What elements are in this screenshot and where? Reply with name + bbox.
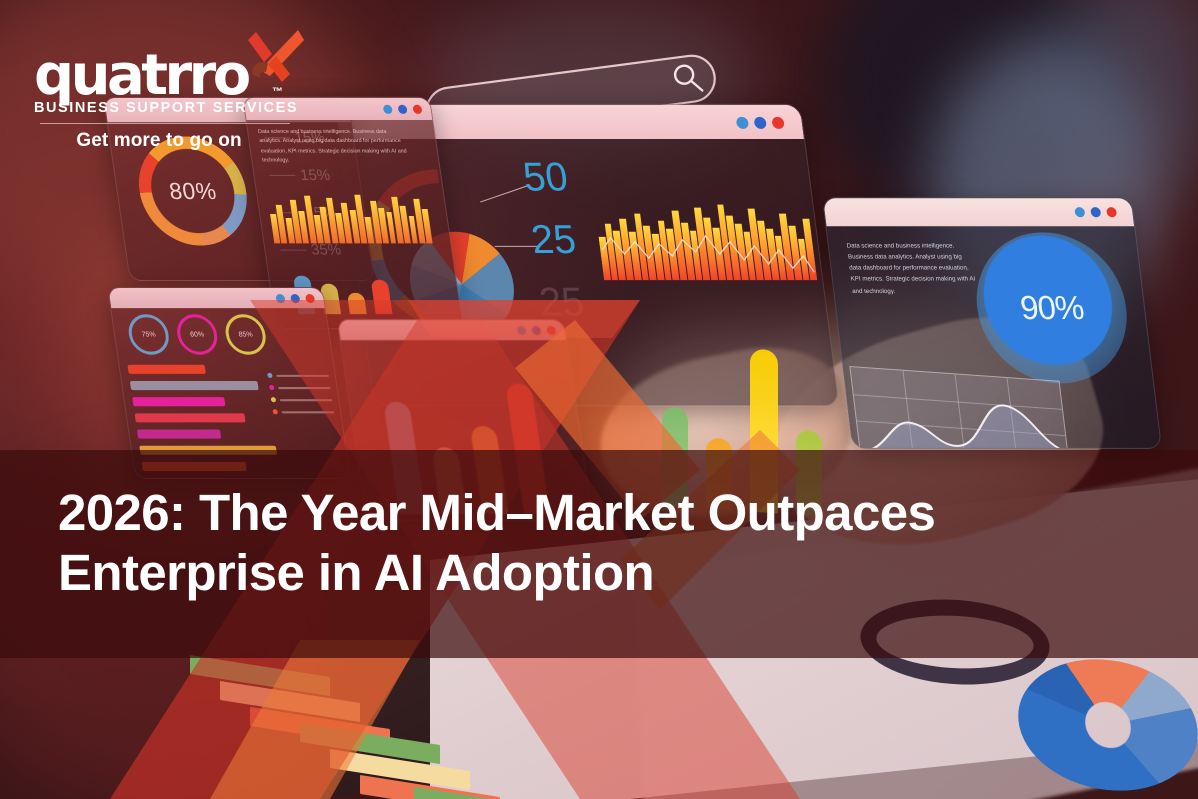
window-dots[interactable] — [736, 117, 785, 129]
window-dots[interactable] — [383, 105, 423, 114]
brand-tagline: Get more to go on — [34, 130, 284, 152]
histogram-trend-line — [593, 198, 817, 281]
window-dot-blue[interactable] — [383, 105, 393, 114]
line-series — [850, 367, 1071, 449]
axis-label-25b: 25 — [537, 282, 586, 322]
quatrro-x-mark-icon — [246, 30, 308, 90]
ring-gauge: 85% — [223, 314, 268, 354]
sparkline-histogram — [267, 191, 433, 244]
kpi-value: 90% — [968, 232, 1135, 383]
window-dot-red[interactable] — [771, 117, 784, 129]
window-dot-red[interactable] — [546, 326, 556, 335]
ring-gauges: 75% 60% 85% — [126, 314, 268, 354]
window-dot-blue[interactable] — [1074, 207, 1085, 217]
banner-root: 50 25 25 80% 15% 15% 15% — [0, 0, 1198, 799]
kpi-bubble: 90% — [968, 232, 1135, 383]
window-dot-blue[interactable] — [275, 294, 285, 303]
divider — [40, 123, 290, 124]
ring-gauge: 75% — [126, 314, 171, 354]
chart-legend — [267, 373, 335, 422]
trademark-symbol: ™ — [272, 86, 283, 98]
window-dot-navy[interactable] — [754, 117, 767, 129]
window-dot-navy[interactable] — [398, 105, 408, 114]
headline-line-1: 2026: The Year Mid–Market Outpaces — [58, 484, 935, 541]
window-dot-navy[interactable] — [290, 294, 300, 303]
axis-label-25a: 25 — [529, 220, 578, 260]
window-dots[interactable] — [517, 326, 557, 335]
window-dot-navy[interactable] — [1090, 207, 1101, 217]
window-dot-red[interactable] — [305, 294, 315, 303]
window-dot-red[interactable] — [1106, 207, 1117, 217]
page-title: 2026: The Year Mid–Market Outpaces Enter… — [58, 483, 1178, 602]
donut-center-value: 80% — [131, 136, 254, 245]
kpi-line-chart — [849, 366, 1072, 449]
ring-gauge: 60% — [174, 314, 219, 354]
printed-report — [500, 648, 1198, 799]
headline-line-2: Enterprise in AI Adoption — [58, 543, 1178, 603]
window-dots[interactable] — [1074, 207, 1117, 217]
window-dot-red[interactable] — [412, 105, 422, 114]
kpi-description-text: Data science and business intelligence. … — [846, 240, 980, 296]
window-dots[interactable] — [275, 294, 315, 303]
brand-subtitle: BUSINESS SUPPORT SERVICES — [34, 100, 304, 116]
axis-label-50: 50 — [521, 157, 570, 197]
window-dot-navy[interactable] — [531, 326, 541, 335]
dashboard-card-kpi[interactable]: Data science and business intelligence. … — [822, 197, 1162, 449]
window-dot-blue[interactable] — [736, 117, 749, 129]
window-dot-blue[interactable] — [517, 326, 527, 335]
